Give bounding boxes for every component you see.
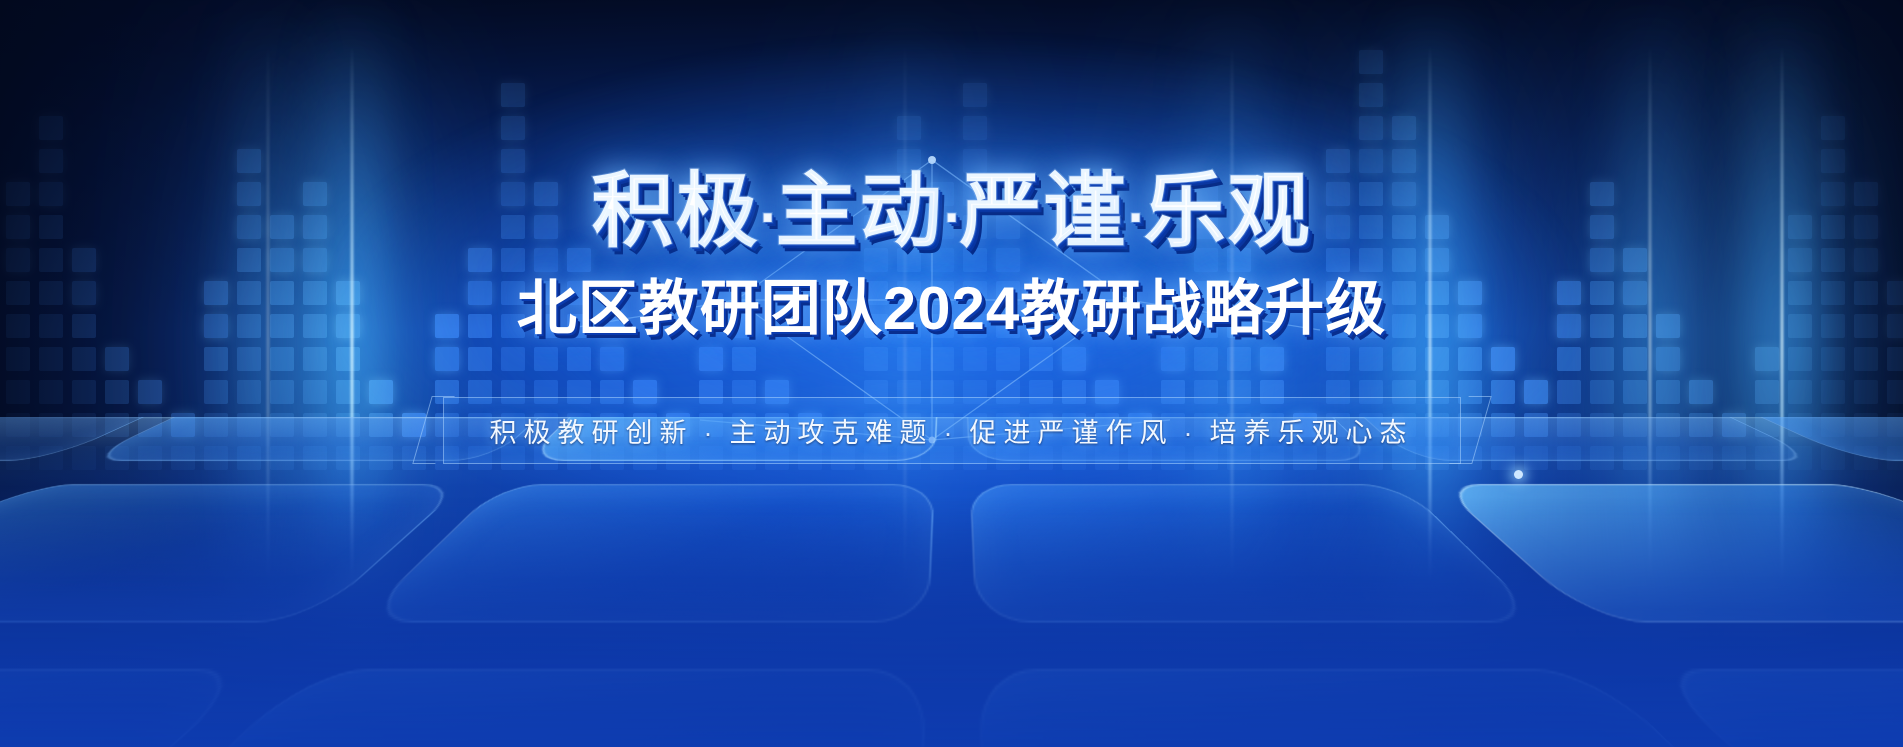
tagline-item: 积极教研创新 (490, 418, 694, 448)
title-word: 严谨 (960, 166, 1128, 257)
banner-content: 积极·主动·严谨·乐观 北区教研团队2024教研战略升级 积极教研创新·主动攻克… (0, 0, 1903, 747)
title-word: 主动 (775, 166, 943, 257)
title-separator-dot: · (759, 188, 775, 247)
tagline-separator: · (694, 418, 730, 448)
tagline-item: 培养乐观心态 (1210, 418, 1414, 448)
banner-subtitle: 北区教研团队2024教研战略升级 (517, 260, 1386, 347)
title-separator-dot: · (1128, 188, 1144, 247)
banner-main-title: 积极·主动·严谨·乐观 (591, 170, 1311, 254)
tagline-item: 促进严谨作风 (970, 418, 1174, 448)
title-word: 乐观 (1144, 166, 1312, 257)
tagline-box: 积极教研创新·主动攻克难题·促进严谨作风·培养乐观心态 (443, 397, 1461, 464)
title-word: 积极 (591, 166, 759, 257)
tagline-item: 主动攻克难题 (730, 418, 934, 448)
tagline-separator: · (1174, 418, 1210, 448)
tagline-separator: · (934, 418, 970, 448)
title-separator-dot: · (944, 188, 960, 247)
hero-banner: 积极·主动·严谨·乐观 北区教研团队2024教研战略升级 积极教研创新·主动攻克… (0, 0, 1903, 747)
accent-dot-right (1514, 470, 1523, 479)
banner-tagline: 积极教研创新·主动攻克难题·促进严谨作风·培养乐观心态 (490, 411, 1414, 450)
